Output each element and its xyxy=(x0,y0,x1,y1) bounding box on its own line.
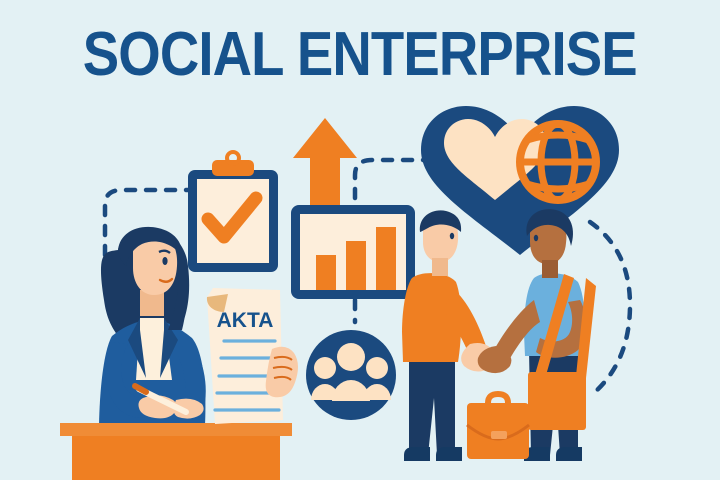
person-center-head xyxy=(337,343,365,371)
person-left-neck xyxy=(432,258,448,276)
woman-eye xyxy=(162,257,167,265)
globe-icon xyxy=(520,124,596,200)
desk-front xyxy=(72,436,280,480)
person-right-eye xyxy=(534,235,538,241)
group-people-icon xyxy=(306,330,396,420)
satchel-bag xyxy=(528,372,586,430)
akta-label: AKTA xyxy=(217,309,274,332)
desk-top xyxy=(60,423,292,436)
briefcase-icon xyxy=(467,394,529,459)
desk xyxy=(60,423,292,480)
person-left-shoe-1 xyxy=(404,447,430,461)
bar-3 xyxy=(376,227,396,290)
illustration-canvas: AKTA xyxy=(0,0,720,480)
person-right-head xyxy=(366,357,388,379)
person-left-eye xyxy=(450,233,454,239)
bar-2 xyxy=(346,241,366,290)
briefcase-clasp xyxy=(491,431,507,439)
person-left-shoe-2 xyxy=(436,447,462,461)
bar-1 xyxy=(316,255,336,290)
person-left-head xyxy=(314,357,336,379)
person-right-neck xyxy=(542,260,558,278)
person-right-shoe-2 xyxy=(556,447,582,461)
social-enterprise-illustration: AKTA xyxy=(0,0,720,480)
clipboard-check-icon xyxy=(188,152,278,272)
bar-chart-monitor-icon xyxy=(291,205,415,299)
